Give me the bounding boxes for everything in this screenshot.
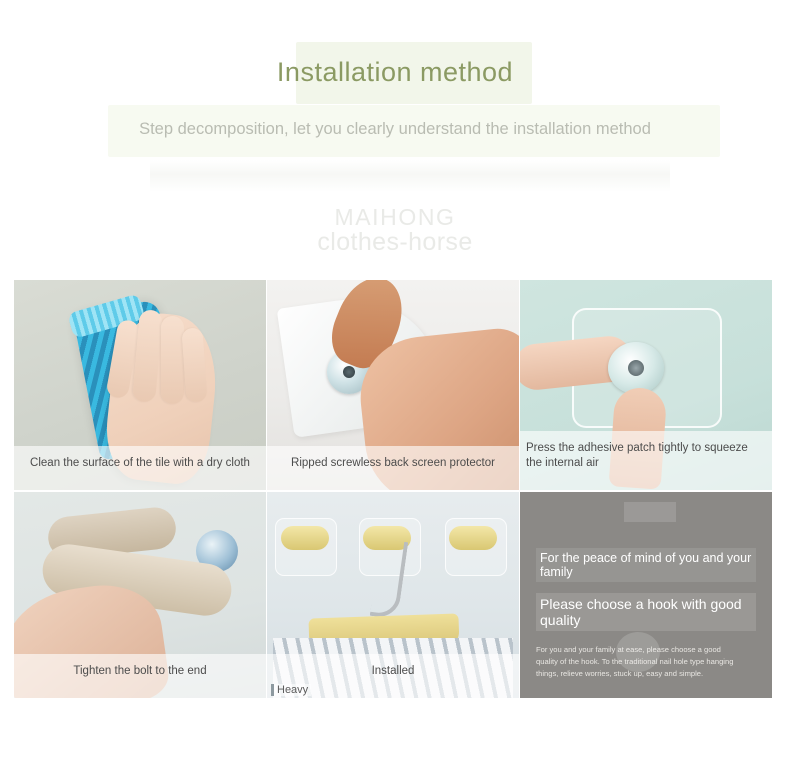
wooden-peg-shape	[281, 526, 329, 550]
step-2-caption: Ripped screwless back screen protector	[267, 446, 519, 490]
step-1-caption: Clean the surface of the tile with a dry…	[14, 446, 266, 490]
promo-headline-2: Please choose a hook with good quality	[536, 593, 756, 631]
step-4-caption: Tighten the bolt to the end	[14, 654, 266, 698]
step-cell-4[interactable]: Tighten the bolt to the end	[14, 492, 266, 698]
step-3-caption: Press the adhesive patch tightly to sque…	[520, 431, 772, 490]
promo-panel[interactable]: For the peace of mind of you and your fa…	[520, 492, 772, 698]
installation-steps-grid: Clean the surface of the tile with a dry…	[14, 280, 772, 700]
watermark-product-name: clothes-horse	[0, 229, 790, 255]
wooden-peg-shape	[449, 526, 497, 550]
weight-tag: Heavy	[271, 684, 311, 696]
page-header: Installation method Step decomposition, …	[0, 0, 790, 270]
brand-watermark: MAIHONG clothes-horse	[0, 205, 790, 255]
step-cell-5[interactable]: Installed Heavy	[267, 492, 519, 698]
decorative-blur-band	[150, 160, 670, 192]
page-subtitle: Step decomposition, let you clearly unde…	[0, 120, 790, 139]
step-cell-3[interactable]: Press the adhesive patch tightly to sque…	[520, 280, 772, 490]
step-slider[interactable]	[0, 700, 790, 779]
page-root: Installation method Step decomposition, …	[0, 0, 790, 779]
page-title: Installation method	[0, 44, 790, 100]
promo-decorative-circle	[616, 632, 660, 672]
promo-headline-1: For the peace of mind of you and your fa…	[536, 548, 756, 582]
finger-shape	[161, 316, 184, 404]
suction-cap-shape	[608, 342, 664, 394]
watermark-brand-name: MAIHONG	[0, 205, 790, 229]
step-cell-2[interactable]: Ripped screwless back screen protector	[267, 280, 519, 490]
step-cell-1[interactable]: Clean the surface of the tile with a dry…	[14, 280, 266, 490]
